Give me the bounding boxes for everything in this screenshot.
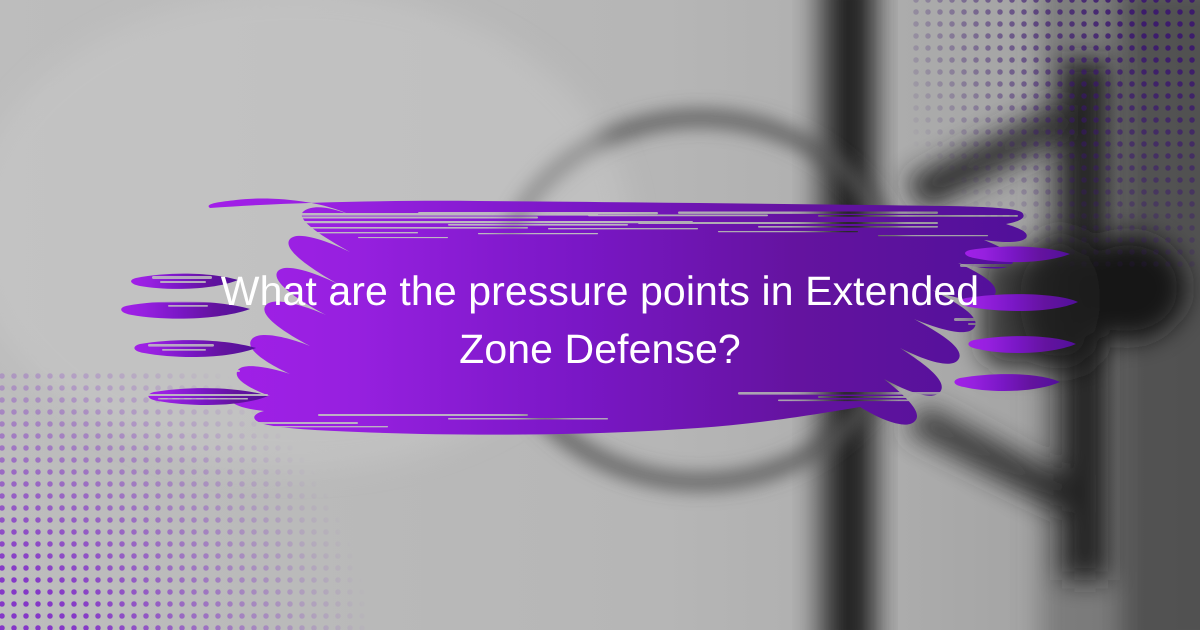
social-card: What are the pressure points in Extended… (0, 0, 1200, 630)
headline-text: What are the pressure points in Extended… (180, 262, 1020, 378)
